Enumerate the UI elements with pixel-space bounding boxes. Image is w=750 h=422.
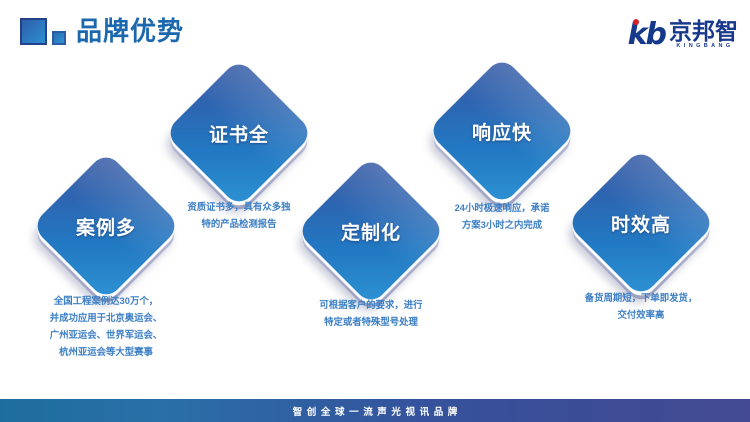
diamond-face-4 <box>427 56 577 206</box>
caption-line: 方案3小时之内完成 <box>406 216 598 233</box>
caption-line: 特定或者特殊型号处理 <box>275 313 467 330</box>
diamond-shape-5[interactable]: 时效高 <box>588 170 694 276</box>
page-title: 品牌优势 <box>76 14 184 48</box>
caption-line: 资质证书多，具有众多独 <box>143 198 335 215</box>
logo-red-dot-icon <box>633 19 639 25</box>
caption-line: 广州亚运会、世界军运会、 <box>10 326 202 343</box>
logo-mark-kb: kb <box>628 20 665 50</box>
brand-logo: kb 京邦智 KINGBANG <box>628 16 738 50</box>
caption-line: 杭州亚运会等大型赛事 <box>10 343 202 360</box>
caption-line: 并成功应用于北京奥运会、 <box>10 309 202 326</box>
caption-line: 备货周期短，下单即发货， <box>545 289 737 306</box>
advantage-caption-3: 可根据客户的要求，进行 特定或者特殊型号处理 <box>275 296 467 330</box>
footer-slogan: 智创全球一流声光视讯品牌 <box>288 404 462 418</box>
diamond-shape-4[interactable]: 响应快 <box>449 78 555 184</box>
slide-header: 品牌优势 kb 京邦智 KINGBANG <box>0 0 750 64</box>
advantage-caption-1: 全国工程案例达30万个， 并成功应用于北京奥运会、 广州亚运会、世界军运会、 杭… <box>10 292 202 360</box>
diamond-face-2 <box>164 58 314 208</box>
diamond-face-5 <box>566 148 716 298</box>
slide-footer: 智创全球一流声光视讯品牌 <box>0 399 750 422</box>
caption-line: 可根据客户的要求，进行 <box>275 296 467 313</box>
logo-english-name: KINGBANG <box>676 42 733 50</box>
caption-line: 交付效率高 <box>545 306 737 323</box>
logo-chinese-name: 京邦智 <box>669 19 738 43</box>
advantage-caption-5: 备货周期短，下单即发货， 交付效率高 <box>545 289 737 323</box>
diamond-shape-2[interactable]: 证书全 <box>186 80 292 186</box>
decorative-square-large-icon <box>20 18 47 45</box>
caption-line: 全国工程案例达30万个， <box>10 292 202 309</box>
decorative-square-small-icon <box>52 31 66 45</box>
advantage-caption-4: 24小时极速响应，承诺 方案3小时之内完成 <box>406 199 598 233</box>
logo-wordmark: 京邦智 KINGBANG <box>669 19 738 50</box>
caption-line: 24小时极速响应，承诺 <box>406 199 598 216</box>
slide-canvas: 品牌优势 kb 京邦智 KINGBANG 案例多 全国工程案例达30万个， 并成… <box>0 0 750 422</box>
